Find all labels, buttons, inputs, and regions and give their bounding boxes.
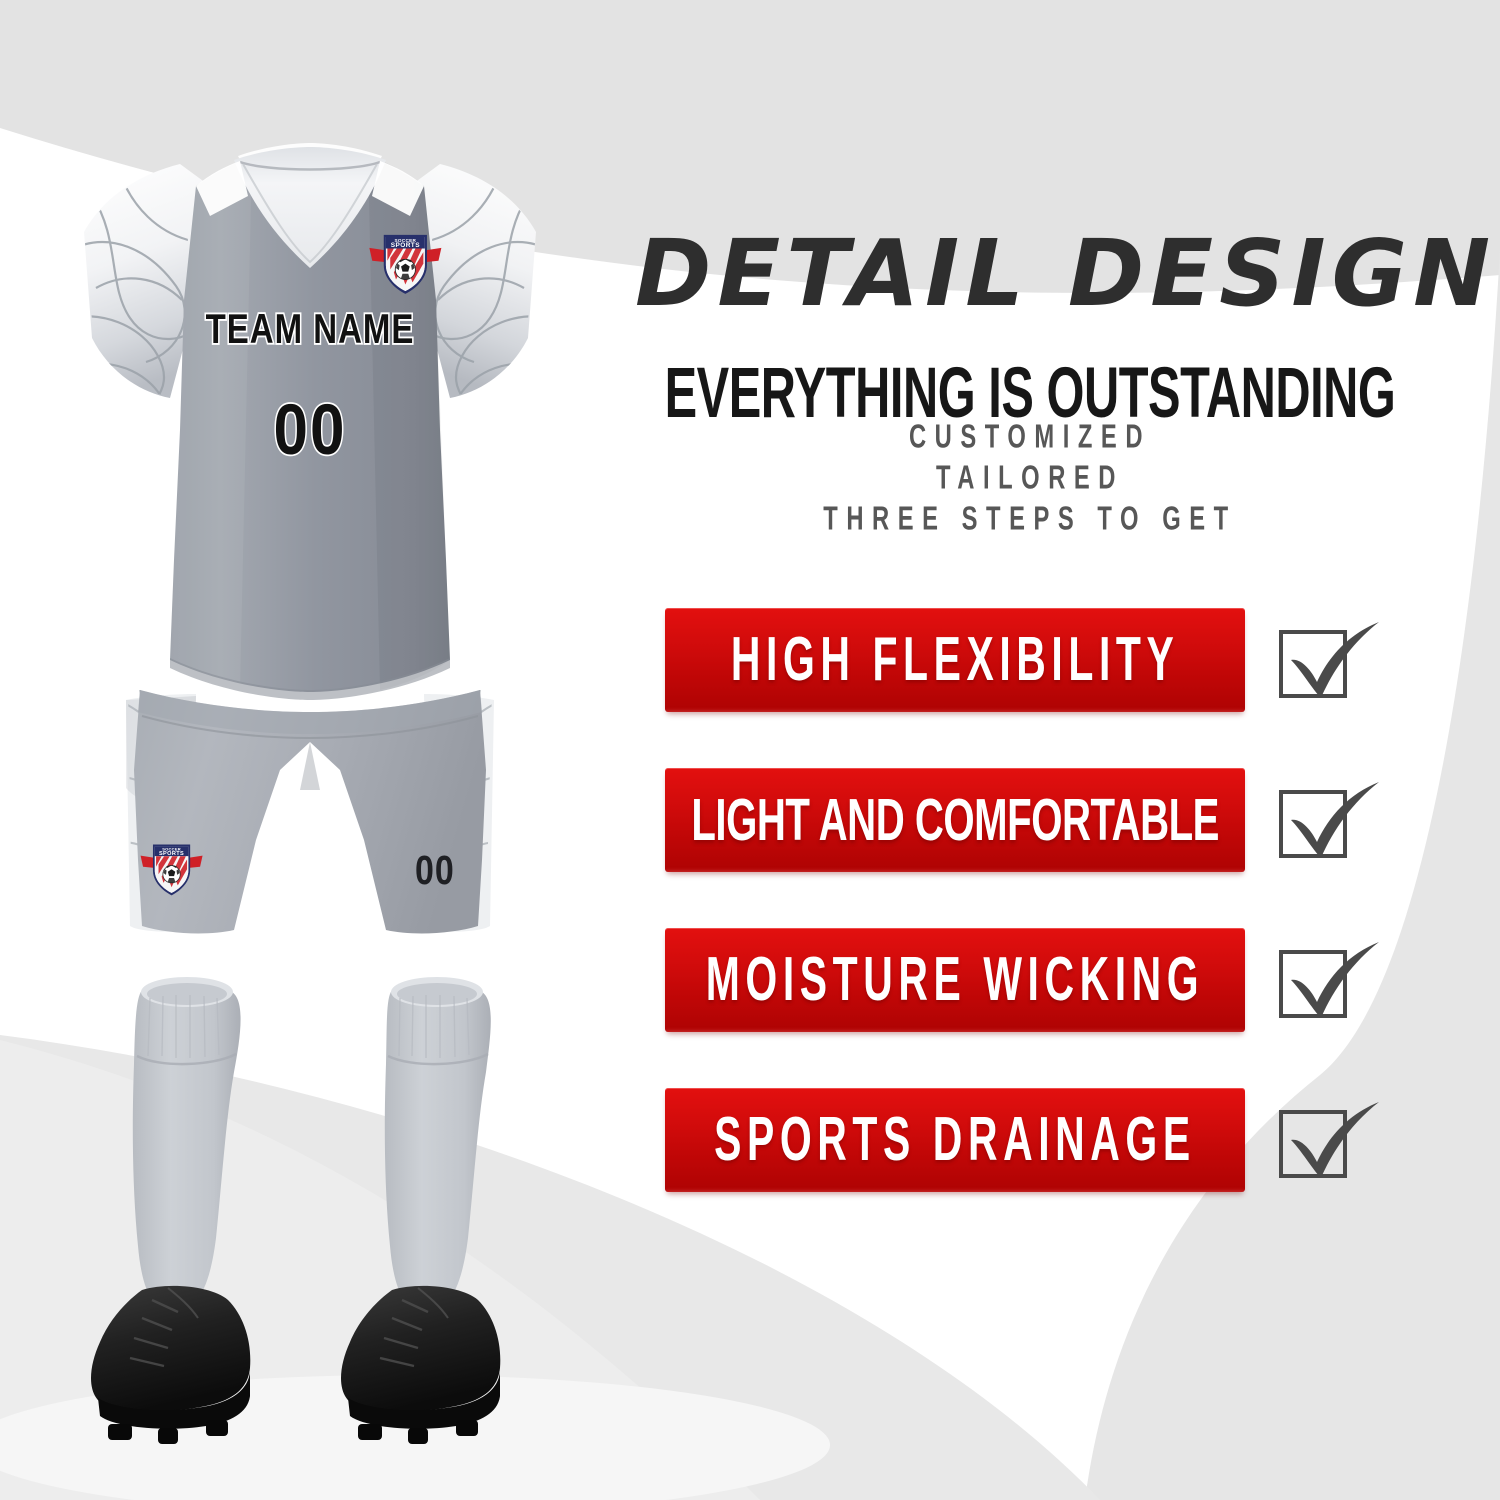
checkmark-icon[interactable] [1275,616,1385,712]
jersey-team-name: TEAM NAME [180,305,440,353]
svg-text:SPORTS: SPORTS [391,242,420,249]
feature-label: LIGHT AND COMFORTABLE [681,786,1228,854]
shorts-number: 00 [415,848,495,895]
marketing-copy: DETAIL DESIGN EVERYTHING IS OUTSTANDING … [560,0,1500,1500]
feature-item: LIGHT AND COMFORTABLE [665,768,1385,928]
page-title: DETAIL DESIGN [635,228,1425,320]
tagline-list: CUSTOMIZED TAILORED THREE STEPS TO GET [560,425,1500,548]
feature-item: MOISTURE WICKING [665,928,1385,1088]
feature-banner-moisture-wicking[interactable]: MOISTURE WICKING [665,928,1245,1032]
feature-list: HIGH FLEXIBILITY LIGHT AND COMFORTABLE [665,608,1385,1248]
jersey-number: 00 [230,390,390,472]
tagline-3: THREE STEPS TO GET [584,503,1477,537]
feature-label: SPORTS DRAINAGE [705,1105,1205,1176]
feature-item: SPORTS DRAINAGE [665,1088,1385,1248]
tagline-1: CUSTOMIZED [584,421,1477,455]
tagline-2: TAILORED [584,462,1477,496]
soccer-uniform-illustration: SOCCER SPORTS [0,0,620,1500]
checkmark-icon[interactable] [1275,936,1385,1032]
checkmark-icon[interactable] [1275,1096,1385,1192]
feature-label: HIGH FLEXIBILITY [721,625,1188,696]
product-showcase: SOCCER SPORTS [0,0,620,1500]
feature-item: HIGH FLEXIBILITY [665,608,1385,768]
svg-text:SPORTS: SPORTS [159,851,184,857]
feature-banner-light-and-comfortable[interactable]: LIGHT AND COMFORTABLE [665,768,1245,872]
feature-banner-sports-drainage[interactable]: SPORTS DRAINAGE [665,1088,1245,1192]
product-feature-poster: SOCCER SPORTS [0,0,1500,1500]
feature-label: MOISTURE WICKING [696,945,1213,1016]
feature-banner-high-flexibility[interactable]: HIGH FLEXIBILITY [665,608,1245,712]
checkmark-icon[interactable] [1275,776,1385,872]
